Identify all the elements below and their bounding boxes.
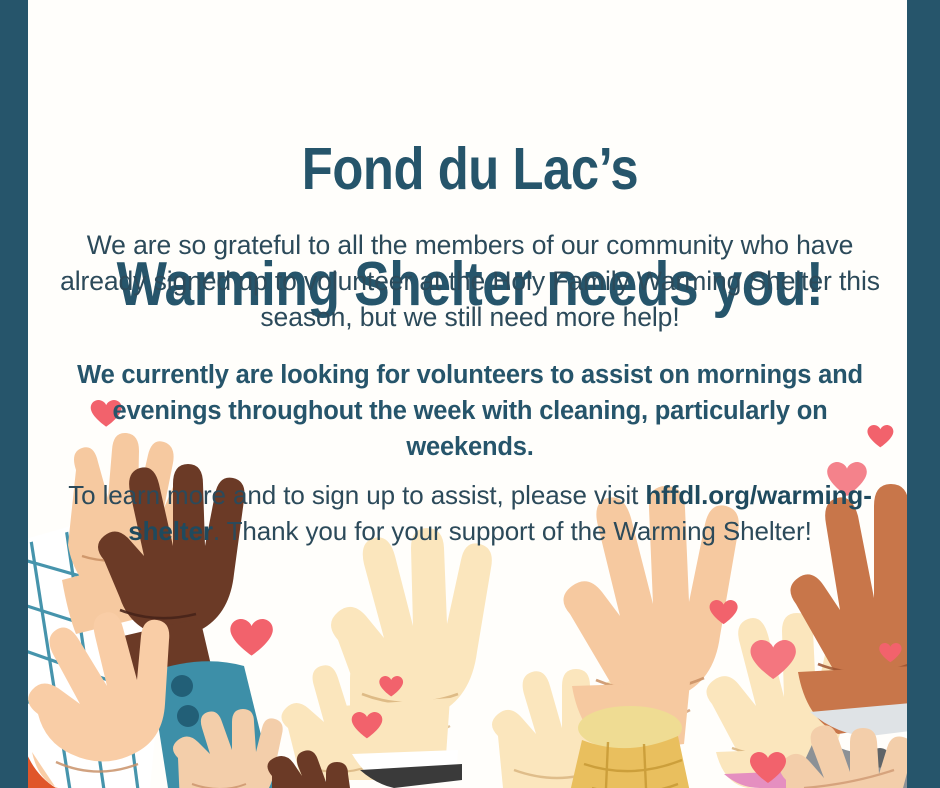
emphasis-paragraph: We currently are looking for volunteers …	[52, 357, 888, 466]
cta-text-before: To learn more and to sign up to assist, …	[68, 480, 645, 510]
left-border-bar	[0, 0, 28, 788]
headline-line-1: Fond du Lac’s	[109, 141, 831, 198]
cta-text-after: . Thank you for your support of the Warm…	[213, 516, 812, 546]
right-border-bar	[907, 0, 940, 788]
cta-paragraph: To learn more and to sign up to assist, …	[52, 478, 888, 549]
intro-paragraph: We are so grateful to all the members of…	[52, 227, 888, 335]
poster-canvas: Fond du Lac’s Warming Shelter needs you!…	[0, 0, 940, 788]
